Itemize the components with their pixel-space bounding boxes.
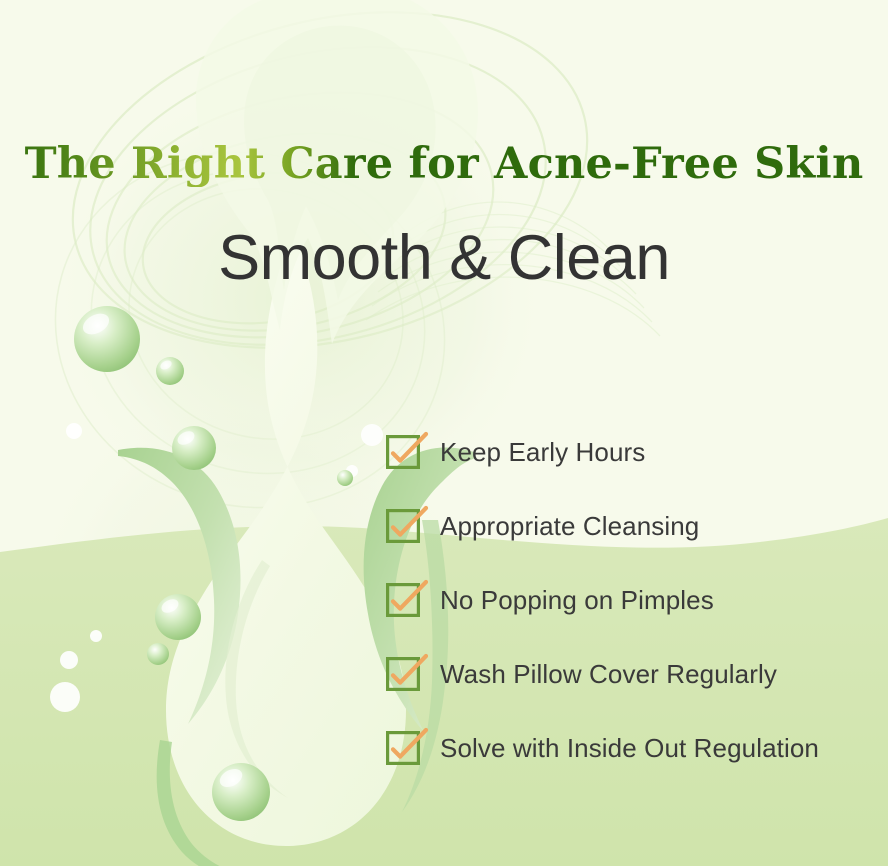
checkbox-checked-icon[interactable] <box>386 435 420 469</box>
checkbox-checked-icon[interactable] <box>386 657 420 691</box>
page-title: The Right Care for Acne-Free Skin <box>0 142 888 187</box>
list-item-label: Appropriate Cleansing <box>440 511 699 542</box>
checkbox-checked-icon[interactable] <box>386 731 420 765</box>
list-item[interactable]: Solve with Inside Out Regulation <box>386 711 876 785</box>
list-item[interactable]: Keep Early Hours <box>386 415 876 489</box>
list-item-label: Keep Early Hours <box>440 437 645 468</box>
list-item-label: Wash Pillow Cover Regularly <box>440 659 777 690</box>
list-item[interactable]: No Popping on Pimples <box>386 563 876 637</box>
checkbox-checked-icon[interactable] <box>386 509 420 543</box>
page-subtitle: Smooth & Clean <box>0 222 888 294</box>
list-item[interactable]: Appropriate Cleansing <box>386 489 876 563</box>
checkbox-checked-icon[interactable] <box>386 583 420 617</box>
checklist: Keep Early Hours Appropriate Cleansing <box>386 415 876 785</box>
list-item-label: No Popping on Pimples <box>440 585 714 616</box>
list-item-label: Solve with Inside Out Regulation <box>440 733 819 764</box>
poster-canvas: The Right Care for Acne-Free Skin Smooth… <box>0 0 888 866</box>
list-item[interactable]: Wash Pillow Cover Regularly <box>386 637 876 711</box>
